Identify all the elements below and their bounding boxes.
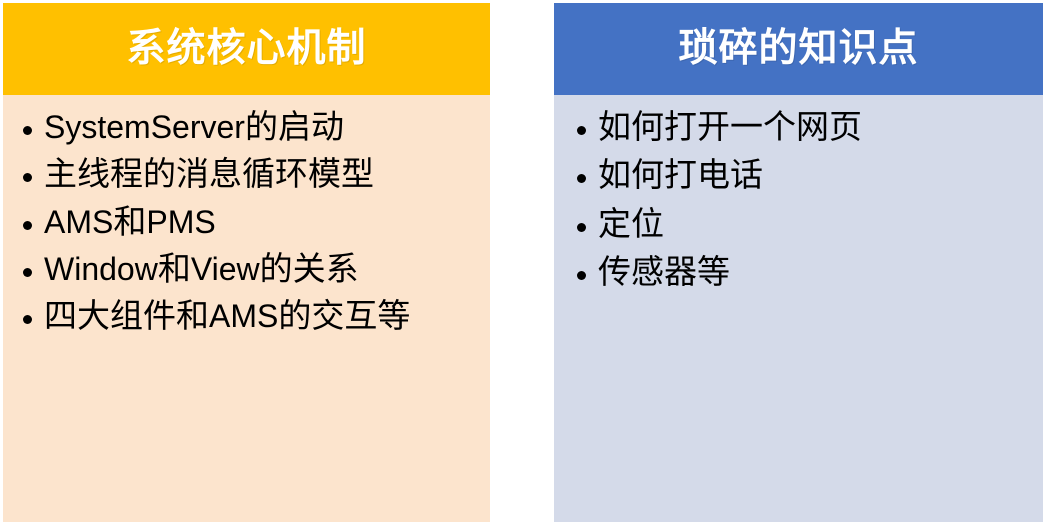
bullet-list-misc-knowledge: 如何打开一个网页 如何打电话 定位 传感器等 (564, 109, 1033, 292)
list-item-text: 如何打开一个网页 (598, 110, 862, 146)
list-item-text: 如何打电话 (598, 158, 763, 194)
list-item-text: 定位 (598, 207, 664, 243)
panel-misc-knowledge: 琐碎的知识点 如何打开一个网页 如何打电话 定位 传感器等 (554, 3, 1043, 522)
list-item-text: Window和View的关系 (44, 252, 359, 288)
list-item: 四大组件和AMS的交互等 (13, 298, 480, 336)
list-item: Window和View的关系 (13, 251, 480, 289)
panel-core-mechanism: 系统核心机制 SystemServer的启动 主线程的消息循环模型 AMS和PM… (3, 3, 490, 522)
list-item: 主线程的消息循环模型 (13, 156, 480, 194)
list-item: 如何打电话 (564, 157, 1033, 195)
panel-header-core-mechanism: 系统核心机制 (3, 3, 490, 95)
panel-body-misc-knowledge: 如何打开一个网页 如何打电话 定位 传感器等 (554, 95, 1043, 292)
list-item-text: 主线程的消息循环模型 (44, 157, 374, 193)
panel-title-misc-knowledge: 琐碎的知识点 (678, 29, 918, 70)
panel-title-core-mechanism: 系统核心机制 (126, 29, 366, 70)
list-item: 传感器等 (564, 254, 1033, 292)
list-item: 定位 (564, 206, 1033, 244)
list-item-text: AMS和PMS (44, 205, 216, 241)
slide-canvas: 系统核心机制 SystemServer的启动 主线程的消息循环模型 AMS和PM… (0, 0, 1043, 522)
list-item-text: SystemServer的启动 (44, 110, 344, 146)
list-item: AMS和PMS (13, 204, 480, 242)
list-item: 如何打开一个网页 (564, 109, 1033, 147)
list-item-text: 四大组件和AMS的交互等 (44, 299, 410, 335)
panel-body-core-mechanism: SystemServer的启动 主线程的消息循环模型 AMS和PMS Windo… (3, 95, 490, 336)
list-item: SystemServer的启动 (13, 109, 480, 147)
panel-header-misc-knowledge: 琐碎的知识点 (554, 3, 1043, 95)
bullet-list-core-mechanism: SystemServer的启动 主线程的消息循环模型 AMS和PMS Windo… (13, 109, 480, 336)
list-item-text: 传感器等 (598, 255, 730, 291)
